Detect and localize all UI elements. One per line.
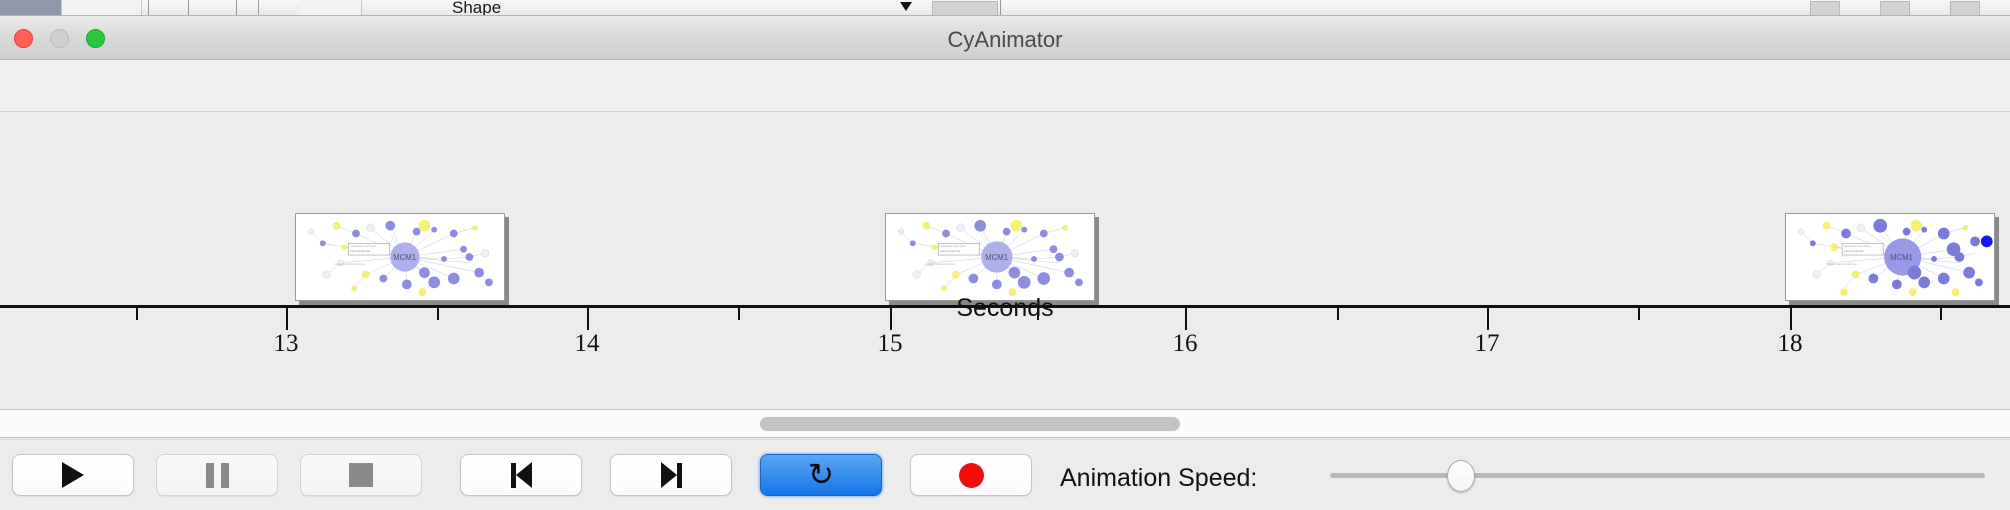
next-frame-button[interactable]	[610, 454, 732, 496]
animation-speed-label: Animation Speed:	[1060, 464, 1257, 493]
timeline-scrollbar-thumb[interactable]	[760, 417, 1180, 431]
frames-toolbar: ✚ Clear All Frames	[0, 60, 2010, 112]
svg-text:MCM1: MCM1	[393, 253, 416, 262]
svg-text:more detail line: more detail line	[1844, 249, 1864, 253]
timeline-scrollbar[interactable]	[0, 410, 2010, 438]
axis-tick-label: 14	[575, 330, 600, 358]
animation-speed-slider[interactable]	[1330, 473, 1985, 478]
bg-window-label: Shape	[452, 0, 501, 16]
play-icon	[62, 462, 84, 488]
bg-chip	[932, 1, 998, 15]
svg-text:network label string text: network label string text	[925, 262, 956, 266]
bg-tab	[62, 0, 142, 16]
stop-button[interactable]	[300, 454, 422, 496]
stop-icon	[349, 463, 373, 487]
axis-tick-label: 18	[1778, 330, 1803, 358]
loop-button[interactable]: ↻	[760, 454, 882, 496]
bg-divider	[236, 0, 237, 16]
svg-text:annotation text here: annotation text here	[1844, 244, 1870, 248]
network-graph-thumbnail: annotation text here more detail line ne…	[886, 214, 1094, 300]
bg-chip	[1880, 1, 1910, 15]
play-button[interactable]	[12, 454, 134, 496]
svg-text:network label string text: network label string text	[335, 262, 366, 266]
bg-divider	[258, 0, 259, 16]
cyanimator-window: Shape CyAnimator ✚	[0, 0, 2010, 510]
bg-caret-icon	[900, 2, 912, 11]
axis-tick-label: 16	[1173, 330, 1198, 358]
record-button[interactable]	[910, 454, 1032, 496]
svg-text:annotation text here: annotation text here	[940, 244, 966, 248]
bg-divider	[1000, 0, 1001, 16]
skip-backward-icon	[511, 462, 532, 488]
svg-text:more detail line: more detail line	[940, 249, 960, 253]
title-bar: CyAnimator	[0, 16, 2010, 60]
pause-icon	[206, 463, 229, 488]
svg-text:network label string text: network label string text	[1826, 262, 1857, 266]
bg-chip	[1950, 1, 1980, 15]
background-window-strip: Shape	[0, 0, 2010, 16]
animation-speed-slider-thumb[interactable]	[1447, 460, 1475, 492]
svg-text:MCM1: MCM1	[1890, 253, 1913, 262]
network-graph-thumbnail: annotation text here more detail line ne…	[296, 214, 504, 300]
record-icon	[959, 463, 984, 488]
bg-tab	[300, 0, 362, 16]
bg-tab-selected	[0, 0, 62, 16]
svg-text:more detail line: more detail line	[350, 249, 370, 253]
playback-control-bar: ↻ Animation Speed:	[0, 439, 2010, 510]
axis-tick-label: 17	[1475, 330, 1500, 358]
axis-title-seconds: Seconds	[0, 294, 2010, 323]
frame-thumbnail-3[interactable]: annotation text here more detail line ne…	[1785, 213, 1995, 301]
timeline-panel[interactable]: annotation text here more detail line ne…	[0, 112, 2010, 410]
previous-frame-button[interactable]	[460, 454, 582, 496]
axis-tick-label: 15	[878, 330, 903, 358]
loop-icon: ↻	[808, 460, 834, 491]
bg-chip	[1810, 1, 1840, 15]
frame-thumbnail-1[interactable]: annotation text here more detail line ne…	[295, 213, 505, 301]
pause-button[interactable]	[156, 454, 278, 496]
svg-text:MCM1: MCM1	[985, 253, 1008, 262]
window-title: CyAnimator	[0, 27, 2010, 53]
frame-thumbnail-2[interactable]: annotation text here more detail line ne…	[885, 213, 1095, 301]
skip-forward-icon	[661, 462, 682, 488]
network-graph-thumbnail: annotation text here more detail line ne…	[1786, 214, 1994, 300]
bg-divider	[148, 0, 149, 16]
axis-tick-label: 13	[274, 330, 299, 358]
svg-text:annotation text here: annotation text here	[350, 244, 376, 248]
bg-divider	[188, 0, 189, 16]
